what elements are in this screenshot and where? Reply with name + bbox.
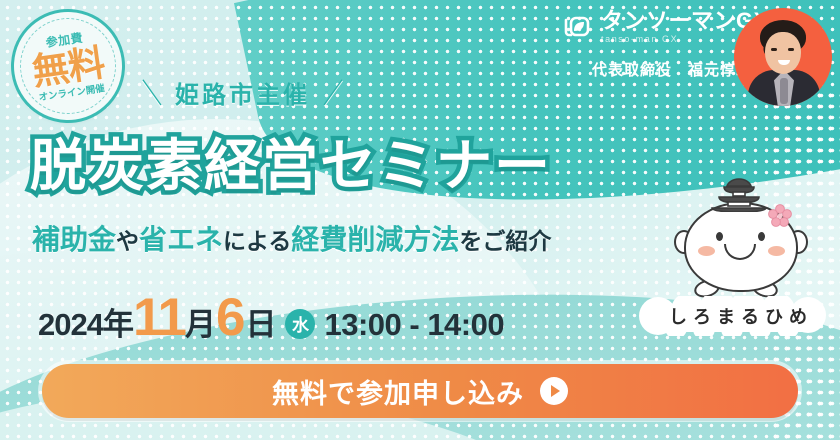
host-label: 姫路市主催	[175, 75, 310, 110]
apply-button[interactable]: 無料で参加申し込み	[42, 364, 798, 418]
subtitle-part-4: による	[223, 228, 291, 254]
presenter-name: 代表取締役 福元惇二	[592, 59, 752, 80]
page-title: 脱炭素経営セミナー	[30, 138, 552, 194]
subtitle-part-6: をご紹介	[459, 228, 551, 254]
mascot-name-plate: しろまるひめ	[636, 296, 840, 336]
event-month-number: 11	[133, 294, 185, 342]
mascot-cheek-right	[768, 246, 785, 256]
event-month-unit: 月	[185, 299, 216, 344]
event-year: 2024年	[38, 299, 133, 344]
tansoman-leaf-logo-icon	[562, 12, 592, 42]
free-badge: 参加費 無料 オンライン開催	[7, 5, 129, 127]
avatar-eye-right	[788, 48, 794, 51]
mascot-eye-left	[716, 232, 723, 241]
host-line: ＼ 姫路市主催 ／	[138, 72, 347, 112]
event-weekday-badge: 水	[285, 309, 315, 339]
host-slash-right-icon: ／	[313, 72, 352, 112]
free-badge-top-label: 参加費	[45, 31, 84, 48]
play-arrow-icon	[540, 377, 568, 405]
event-day-number: 6	[216, 294, 243, 342]
mascot-name-label: しろまるひめ	[636, 296, 840, 336]
avatar-tie	[780, 78, 788, 104]
mascot-eye-right	[758, 232, 765, 241]
event-time: 13:00 - 14:00	[324, 307, 504, 343]
subtitle-part-2: や	[116, 228, 139, 254]
himeji-castle-hat-icon	[706, 178, 772, 212]
event-date-line: 2024年 11 月 6 日 水 13:00 - 14:00	[38, 294, 504, 344]
subtitle-part-3: 省エネ	[139, 224, 223, 255]
avatar-face	[765, 32, 801, 74]
subtitle-part-5: 経費削減方法	[291, 224, 459, 255]
apply-button-label: 無料で参加申し込み	[272, 372, 524, 411]
seminar-banner: 参加費 無料 オンライン開催 ＼ 姫路市主催 ／ 脱炭素経営セミナー 補助金や省…	[0, 0, 840, 440]
subtitle-part-1: 補助金	[32, 224, 116, 255]
shiromaru-hime-mascot	[668, 176, 816, 304]
host-slash-left-icon: ＼	[132, 72, 171, 112]
presenter-avatar	[734, 8, 832, 106]
avatar-eye-left	[771, 48, 777, 51]
event-day-unit: 日	[245, 299, 276, 344]
mascot-cheek-left	[698, 246, 715, 256]
free-badge-main-label: 無料	[30, 44, 106, 91]
subtitle: 補助金や省エネによる経費削減方法をご紹介	[32, 226, 551, 254]
sakura-flower-icon	[768, 204, 792, 228]
free-badge-bottom-label: オンライン開催	[38, 84, 105, 103]
